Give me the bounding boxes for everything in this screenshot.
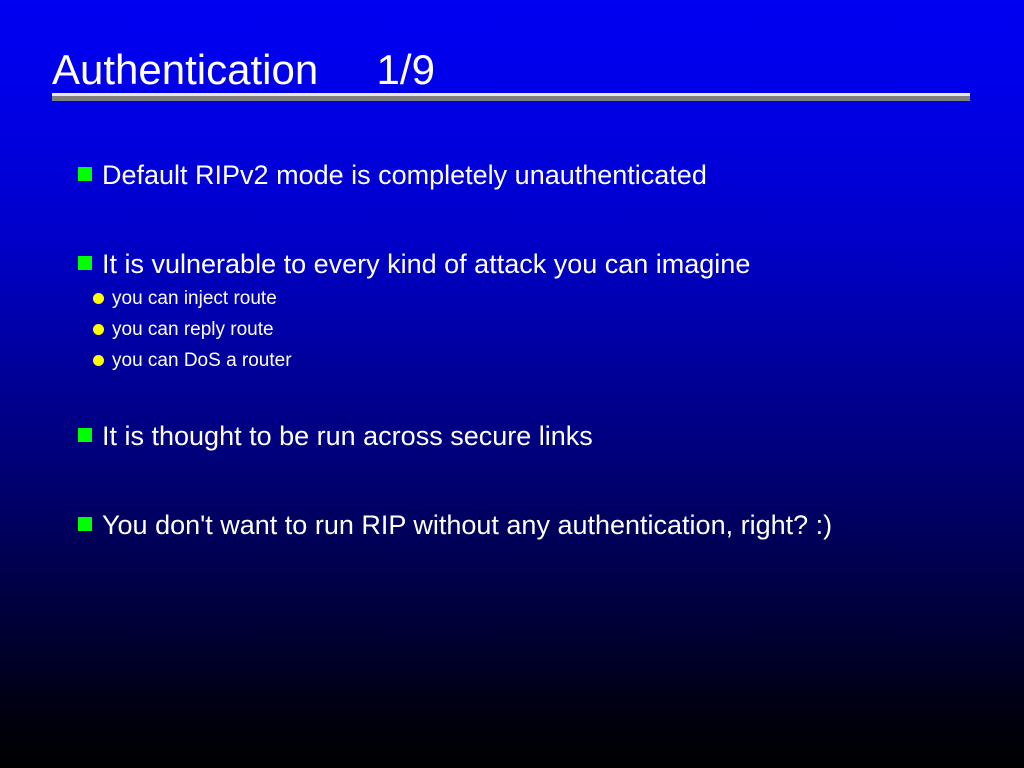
square-bullet-icon — [78, 256, 92, 270]
bullet-item: It is vulnerable to every kind of attack… — [78, 245, 750, 283]
circle-bullet-icon — [93, 324, 104, 335]
sub-bullet-item: you can inject route — [93, 286, 277, 312]
circle-bullet-icon — [93, 293, 104, 304]
square-bullet-icon — [78, 167, 92, 181]
presentation-slide: Authentication 1/9 Default RIPv2 mode is… — [0, 0, 1024, 768]
circle-bullet-icon — [93, 355, 104, 366]
bullet-item: You don't want to run RIP without any au… — [78, 506, 908, 544]
sub-bullet-text: you can DoS a router — [112, 348, 292, 374]
bullet-text: Default RIPv2 mode is completely unauthe… — [102, 156, 707, 194]
sub-bullet-text: you can reply route — [112, 317, 274, 343]
square-bullet-icon — [78, 428, 92, 442]
sub-bullet-item: you can reply route — [93, 317, 274, 343]
bullet-item: Default RIPv2 mode is completely unauthe… — [78, 156, 707, 194]
sub-bullet-item: you can DoS a router — [93, 348, 292, 374]
bullet-text: It is thought to be run across secure li… — [102, 417, 593, 455]
sub-bullet-text: you can inject route — [112, 286, 277, 312]
bullet-text: It is vulnerable to every kind of attack… — [102, 245, 750, 283]
bullet-text: You don't want to run RIP without any au… — [102, 506, 832, 544]
square-bullet-icon — [78, 517, 92, 531]
slide-body: Default RIPv2 mode is completely unauthe… — [0, 0, 1024, 768]
bullet-item: It is thought to be run across secure li… — [78, 417, 593, 455]
